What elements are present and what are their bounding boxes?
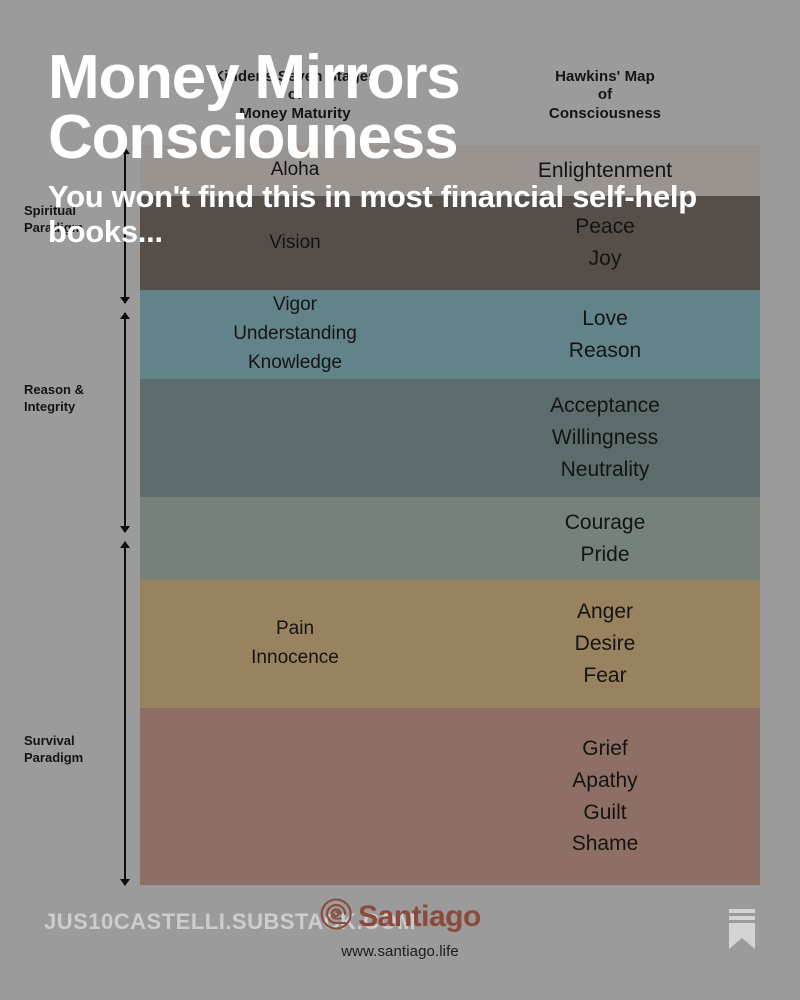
bookmark-icon[interactable] [724,907,760,956]
brand-name: Santiago [358,902,481,932]
band-stack: AlohaEnlightenmentVisionPeaceJoyVigorUnd… [140,145,760,885]
level-label: Guilt [583,797,626,829]
level-label: Reason [569,335,641,367]
level-label: Love [582,303,628,335]
level-label: Shame [572,828,639,860]
paradigm-arrow-reason [124,313,126,532]
band-row: AlohaEnlightenment [140,145,760,196]
level-label: Courage [565,507,646,539]
level-label: Desire [575,628,636,660]
column-header-money-maturity: Kinder's Seven Stages of Money Maturity [140,68,450,123]
band-row: CouragePride [140,497,760,581]
band-stages [140,708,450,885]
level-label: Apathy [572,765,637,797]
stage-label: Pain [276,615,314,644]
footer-brand[interactable]: Santiago www.santiago.life [319,897,481,960]
stage-label: Aloha [271,156,320,185]
consciousness-map-diagram: Kinder's Seven Stages of Money Maturity … [140,60,760,885]
band-row: VisionPeaceJoy [140,196,760,290]
paradigm-label-survival: Survival Paradigm [24,733,116,766]
band-stages: PainInnocence [140,580,450,708]
band-row: VigorUnderstandingKnowledgeLoveReason [140,290,760,378]
band-stages: VigorUnderstandingKnowledge [140,290,450,378]
band-row: PainInnocenceAngerDesireFear [140,580,760,708]
spiral-labyrinth-icon [319,897,353,936]
level-label: Acceptance [550,390,660,422]
level-label: Enlightenment [538,155,672,187]
paradigm-axis: Spiritual Paradigm Reason & Integrity Su… [0,0,140,1000]
band-row: GriefApathyGuiltShame [140,708,760,885]
level-label: Joy [589,243,622,275]
level-label: Fear [583,660,626,692]
band-levels: PeaceJoy [450,196,760,290]
band-levels: AngerDesireFear [450,580,760,708]
stage-label: Vigor [273,291,317,320]
level-label: Pride [580,539,629,571]
level-label: Grief [582,733,628,765]
paradigm-arrow-spiritual [124,148,126,303]
band-levels: CouragePride [450,497,760,581]
stage-label: Innocence [251,644,339,673]
band-row: AcceptanceWillingnessNeutrality [140,379,760,497]
level-label: Peace [575,211,635,243]
level-label: Willingness [552,422,658,454]
column-headers: Kinder's Seven Stages of Money Maturity … [140,60,760,145]
band-stages [140,497,450,581]
level-label: Neutrality [561,454,650,486]
band-levels: Enlightenment [450,145,760,196]
paradigm-label-reason: Reason & Integrity [24,382,116,415]
stage-label: Knowledge [248,349,342,378]
stage-label: Understanding [233,320,357,349]
footer: JUS10CASTELLI.SUBSTACK.COM Santiago www.… [0,885,800,1000]
column-header-hawkins-map: Hawkins' Map of Consciousness [450,68,760,123]
brand-url[interactable]: www.santiago.life [319,943,481,960]
paradigm-arrow-survival [124,542,126,885]
band-levels: LoveReason [450,290,760,378]
band-stages: Aloha [140,145,450,196]
stage-label: Vision [269,229,320,258]
band-stages [140,379,450,497]
band-stages: Vision [140,196,450,290]
level-label: Anger [577,596,633,628]
paradigm-label-spiritual: Spiritual Paradigm [24,203,116,236]
band-levels: GriefApathyGuiltShame [450,708,760,885]
band-levels: AcceptanceWillingnessNeutrality [450,379,760,497]
